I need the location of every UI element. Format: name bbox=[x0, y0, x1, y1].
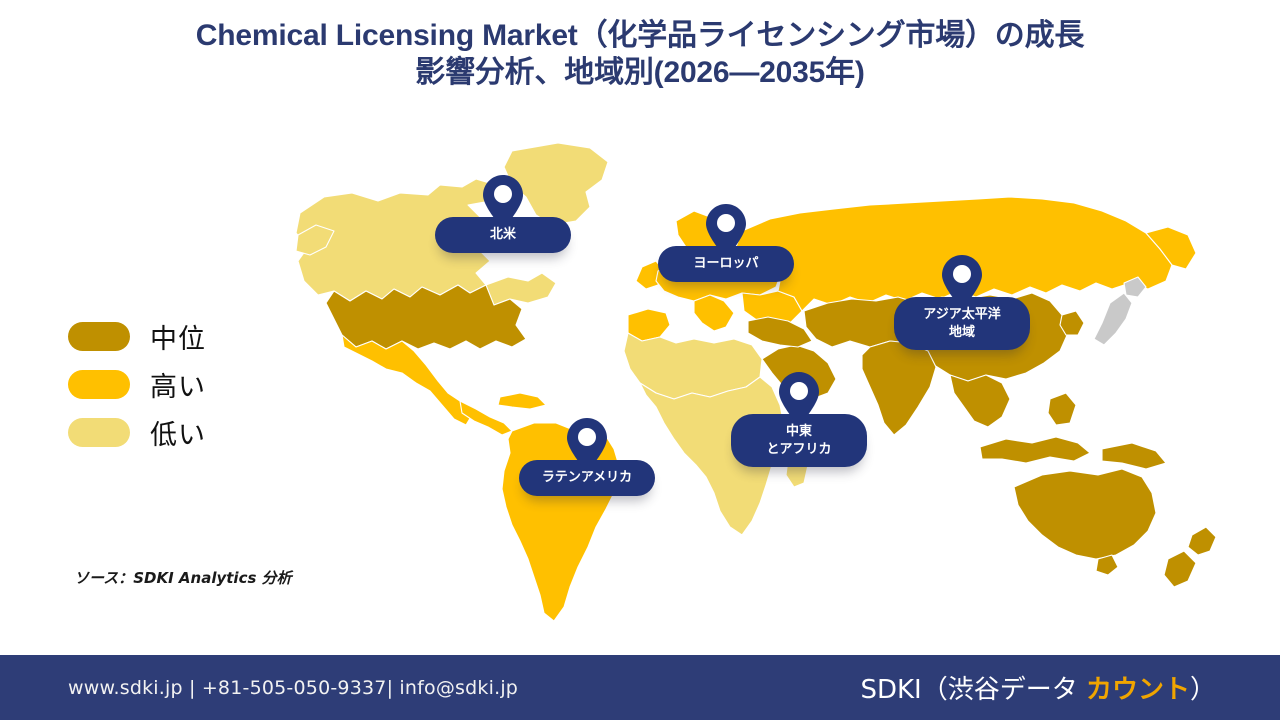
map-region-japan bbox=[1094, 293, 1132, 345]
map-pin-north-america[interactable]: 北米 bbox=[435, 173, 571, 253]
page-title-line-2: 影響分析、地域別(2026—2035年) bbox=[0, 55, 1280, 92]
footer-brand: SDKI（渋谷データ カウント） bbox=[860, 669, 1216, 706]
map-region-australia bbox=[1014, 469, 1156, 559]
location-pin-icon bbox=[565, 416, 609, 474]
map-pin-asia-pacific[interactable]: アジア太平洋 地域 bbox=[894, 253, 1030, 350]
legend: 中位 高い 低い bbox=[68, 312, 298, 456]
location-pin-icon bbox=[777, 370, 821, 428]
map-region-italy-balkans bbox=[694, 295, 734, 331]
legend-label-high: 高い bbox=[150, 365, 206, 404]
source-note: ソース：SDKI Analytics 分析 bbox=[74, 567, 292, 588]
map-region-new-zealand bbox=[1188, 527, 1216, 555]
map-region-new-guinea bbox=[1102, 443, 1166, 469]
footer-brand-tail: ） bbox=[1190, 675, 1216, 705]
map-region-mexico bbox=[342, 335, 472, 425]
legend-item-medium: 中位 bbox=[68, 312, 298, 360]
footer-brand-main: SDKI（渋谷データ bbox=[860, 675, 1086, 705]
map-pin-middle-east-africa[interactable]: 中東 とアフリカ bbox=[731, 370, 867, 467]
page-title: Chemical Licensing Market（化学品ライセンシング市場）の… bbox=[0, 18, 1280, 91]
legend-swatch-low bbox=[68, 418, 130, 447]
location-pin-icon bbox=[481, 173, 525, 231]
world-map-container: 北米 ヨーロッパ アジア太平洋 地域 中東 とアフリカ ラテンアメリカ bbox=[290, 135, 1270, 635]
legend-swatch-medium bbox=[68, 322, 130, 351]
legend-item-high: 高い bbox=[68, 360, 298, 408]
legend-label-medium: 中位 bbox=[150, 317, 206, 356]
map-region-korea bbox=[1060, 311, 1084, 335]
map-region-caribbean bbox=[498, 393, 546, 409]
map-region-turkey-caucasus bbox=[748, 317, 812, 347]
page-title-line-1: Chemical Licensing Market（化学品ライセンシング市場）の… bbox=[0, 18, 1280, 55]
legend-item-low: 低い bbox=[68, 408, 298, 456]
map-region-philippines bbox=[1048, 393, 1076, 425]
footer-contact-info[interactable]: www.sdki.jp | +81-505-050-9337| info@sdk… bbox=[68, 677, 518, 699]
map-region-southeast-asia bbox=[950, 375, 1010, 427]
legend-swatch-high bbox=[68, 370, 130, 399]
location-pin-icon bbox=[940, 253, 984, 311]
map-pin-europe[interactable]: ヨーロッパ bbox=[658, 202, 794, 282]
map-pin-latin-america[interactable]: ラテンアメリカ bbox=[519, 416, 655, 496]
location-pin-icon bbox=[704, 202, 748, 260]
footer-bar: www.sdki.jp | +81-505-050-9337| info@sdk… bbox=[0, 655, 1280, 720]
footer-brand-accent: カウント bbox=[1086, 675, 1190, 705]
map-region-canada-east bbox=[482, 273, 556, 305]
map-region-new-zealand-south bbox=[1164, 551, 1196, 587]
map-region-indonesia bbox=[980, 437, 1090, 463]
legend-label-low: 低い bbox=[150, 413, 206, 452]
map-region-india bbox=[862, 341, 936, 435]
